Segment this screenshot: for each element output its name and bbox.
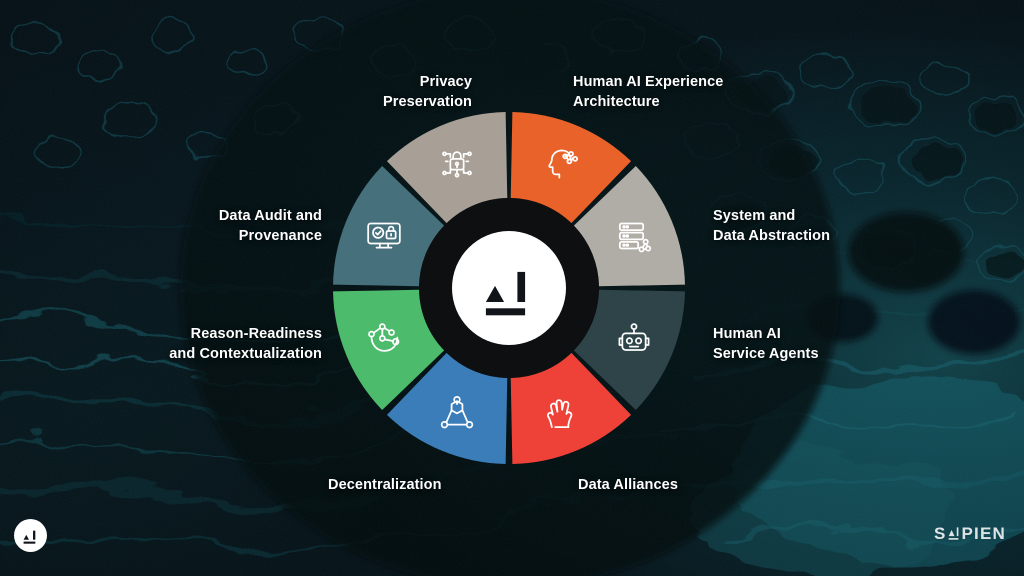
monitor-lock-check-icon: [364, 216, 404, 256]
robot-icon: [614, 320, 654, 360]
label-data-alliances: Data Alliances: [578, 475, 818, 495]
node-graph-icon: [364, 320, 404, 360]
sapien-delta-mark-icon: [474, 253, 544, 323]
center-logo: [452, 231, 566, 345]
wordmark-suffix: PIEN: [962, 524, 1006, 544]
slide-canvas: Privacy Preservation Human AI Experience…: [0, 0, 1024, 576]
server-stack-icon: [614, 216, 654, 256]
label-privacy-preservation: Privacy Preservation: [192, 72, 472, 112]
label-human-ai-experience-architecture: Human AI Experience Architecture: [573, 72, 873, 112]
wordmark-prefix: S: [934, 524, 947, 544]
handshake-hands-icon: [541, 393, 581, 433]
network-cube-icon: [437, 393, 477, 433]
label-decentralization: Decentralization: [328, 475, 568, 495]
label-system-and-data-abstraction: System and Data Abstraction: [713, 206, 1003, 246]
wordmark-delta-mark-icon: [948, 526, 961, 543]
head-circuit-icon: [541, 143, 581, 183]
capability-donut-chart: [333, 112, 685, 464]
label-data-audit-and-provenance: Data Audit and Provenance: [60, 206, 322, 246]
label-human-ai-service-agents: Human AI Service Agents: [713, 324, 1003, 364]
padlock-circuit-icon: [437, 143, 477, 183]
donut-hub: [419, 198, 599, 378]
sapien-wordmark: S PIEN: [934, 524, 1006, 544]
sapien-circle-logo[interactable]: [14, 519, 47, 552]
label-reason-readiness-and-contextualization: Reason-Readiness and Contextualization: [40, 324, 322, 364]
sapien-delta-mark-icon: [20, 525, 41, 546]
